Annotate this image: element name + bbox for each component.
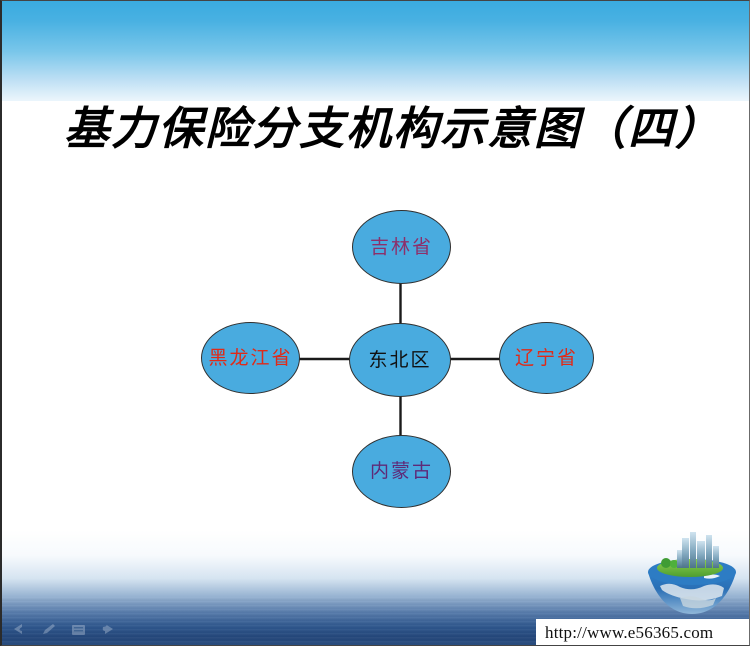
- slide-menu-icon[interactable]: [68, 622, 88, 637]
- watermark-url-text: http://www.e56365.com: [545, 623, 713, 643]
- node-neimenggu-label: 内蒙古: [370, 462, 433, 481]
- node-neimenggu[interactable]: 内蒙古: [352, 435, 451, 508]
- node-dongbei-region-label: 东北区: [368, 351, 431, 370]
- next-slide-icon[interactable]: [97, 622, 117, 637]
- node-jilin[interactable]: 吉林省: [352, 210, 451, 284]
- node-liaoning[interactable]: 辽宁省: [499, 322, 594, 394]
- node-heilongjiang-label: 黑龙江省: [208, 349, 292, 368]
- presentation-slide: 基力保险分支机构示意图（四） 吉林省 黑龙江省 东北区 辽宁省 内蒙古: [0, 0, 750, 646]
- pen-tool-icon[interactable]: [39, 622, 59, 637]
- watermark-url: http://www.e56365.com: [536, 619, 750, 646]
- slideshow-nav-controls[interactable]: [10, 622, 117, 637]
- previous-slide-icon[interactable]: [10, 622, 30, 637]
- node-liaoning-label: 辽宁省: [515, 349, 578, 368]
- sky-gradient-background: [2, 1, 749, 113]
- node-jilin-label: 吉林省: [370, 238, 433, 257]
- node-heilongjiang[interactable]: 黑龙江省: [201, 322, 300, 394]
- earth-city-globe-icon: [638, 528, 746, 620]
- page-title: 基力保险分支机构示意图（四）: [64, 104, 704, 156]
- node-dongbei-region[interactable]: 东北区: [349, 323, 451, 397]
